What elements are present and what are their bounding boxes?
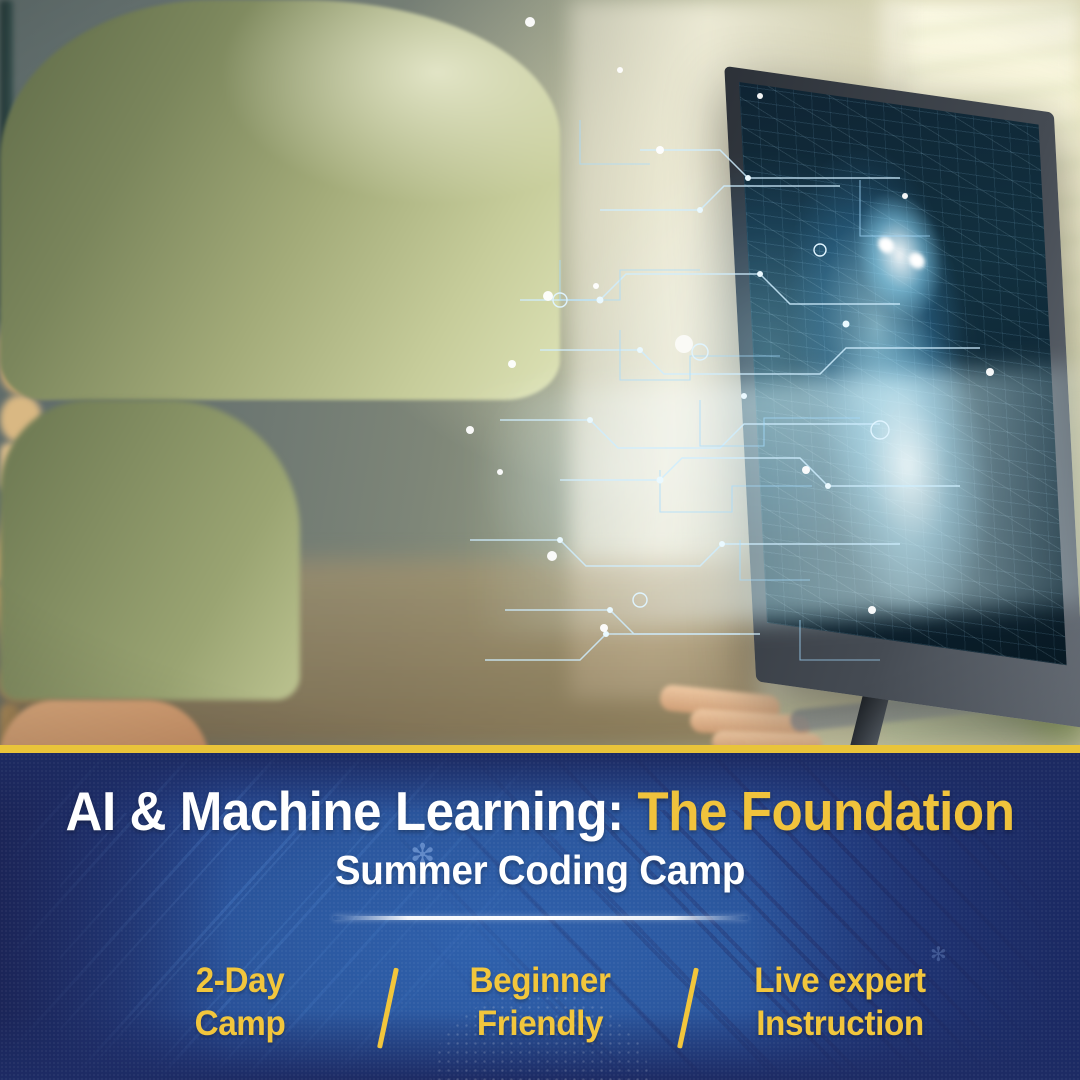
accent-bar — [0, 745, 1080, 753]
photo-vignette — [0, 0, 1080, 745]
headline-main: AI & Machine Learning: — [66, 780, 624, 842]
headline-accent: The Foundation — [637, 780, 1014, 842]
slash-icon — [677, 967, 699, 1048]
feature-item-duration: 2-Day Camp — [126, 960, 354, 1045]
slash-icon — [377, 967, 399, 1048]
hero-photo — [0, 0, 1080, 745]
divider-rule — [333, 916, 748, 920]
feature-separator-1 — [360, 960, 420, 1050]
feature-separator-2 — [660, 960, 720, 1050]
feature-line-1: Beginner — [426, 960, 654, 1003]
feature-line-2: Instruction — [726, 1003, 954, 1046]
feature-line-2: Friendly — [426, 1003, 654, 1046]
feature-item-level: Beginner Friendly — [426, 960, 654, 1045]
feature-item-instruction: Live expert Instruction — [726, 960, 954, 1045]
page-subtitle: Summer Coding Camp — [32, 850, 1047, 891]
feature-row: 2-Day Camp Beginner Friendly Live expert… — [0, 960, 1080, 1060]
feature-line-1: 2-Day — [126, 960, 354, 1003]
feature-line-2: Camp — [126, 1003, 354, 1046]
feature-line-1: Live expert — [726, 960, 954, 1003]
page-title: AI & Machine Learning: The Foundation — [38, 784, 1042, 839]
poster: ✻ ✻ AI & Machine Learning: The Foundatio… — [0, 0, 1080, 1080]
